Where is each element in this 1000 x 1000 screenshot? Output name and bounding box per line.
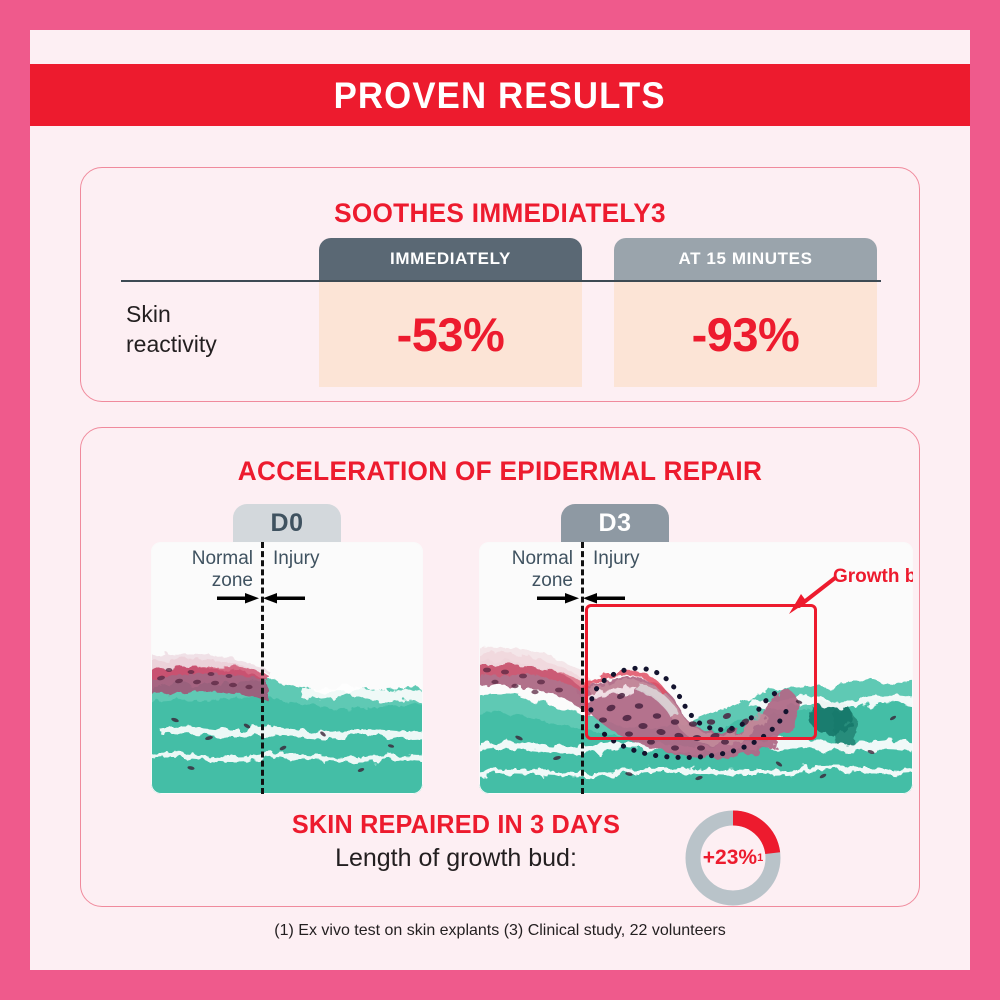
- zone-label-normal-d3-line2: zone: [487, 570, 573, 592]
- value-cell-immediately: -53%: [319, 282, 582, 387]
- column-header-at-15-minutes: AT 15 MINUTES: [614, 238, 877, 280]
- header-banner: PROVEN RESULTS: [30, 64, 970, 126]
- repair-summary-text: SKIN REPAIRED IN 3 DAYS Length of growth…: [241, 810, 671, 874]
- boundary-dashed-line-d3: [581, 542, 584, 794]
- growth-bud-donut-chart: +23%1: [681, 806, 785, 910]
- value-cell-at-15-minutes: -93%: [614, 282, 877, 387]
- donut-value-label: +23%1: [681, 806, 785, 910]
- growth-bud-highlight-box: [585, 604, 817, 740]
- zone-label-injury-d3: Injury: [593, 548, 639, 570]
- zone-label-normal-d0: Normal zone: [167, 548, 253, 592]
- summary-headline: SKIN REPAIRED IN 3 DAYS: [247, 810, 664, 840]
- infographic-root: PROVEN RESULTS SOOTHES IMMEDIATELY3 Skin…: [0, 0, 1000, 1000]
- zone-label-normal-d3-line1: Normal: [487, 548, 573, 570]
- page-content: PROVEN RESULTS SOOTHES IMMEDIATELY3 Skin…: [30, 30, 970, 970]
- donut-value-superscript: 1: [757, 852, 763, 864]
- value-immediately: -53%: [397, 311, 505, 358]
- histology-image-d3: Normal zone Injury: [479, 542, 913, 794]
- panel-label-d3: D3: [561, 504, 669, 542]
- repair-summary: SKIN REPAIRED IN 3 DAYS Length of growth…: [81, 810, 921, 900]
- row-label-skin-reactivity: Skin reactivity: [126, 300, 306, 360]
- footnote: (1) Ex vivo test on skin explants (3) Cl…: [30, 922, 970, 940]
- panel-label-d0-text: D0: [271, 509, 304, 538]
- zone-label-normal-d0-line1: Normal: [167, 548, 253, 570]
- boundary-dashed-line-d0: [261, 542, 264, 794]
- growth-bud-label: Growth bud: [833, 566, 913, 588]
- column-header-immediately-label: IMMEDIATELY: [390, 249, 511, 269]
- soothes-card: SOOTHES IMMEDIATELY3 Skin reactivity IMM…: [80, 167, 920, 402]
- column-header-at-15-minutes-label: AT 15 MINUTES: [678, 249, 812, 269]
- page-title: PROVEN RESULTS: [334, 77, 666, 114]
- epidermal-repair-card: ACCELERATION OF EPIDERMAL REPAIR D0: [80, 427, 920, 907]
- row-label-line2: reactivity: [126, 330, 306, 360]
- zone-label-injury-d0: Injury: [273, 548, 319, 570]
- soothes-table: Skin reactivity IMMEDIATELY AT 15 MINUTE…: [81, 238, 921, 403]
- histology-image-d0: Normal zone Injury: [151, 542, 423, 794]
- panel-label-d3-text: D3: [599, 509, 632, 538]
- column-header-immediately: IMMEDIATELY: [319, 238, 582, 280]
- value-at-15-minutes: -93%: [692, 311, 800, 358]
- soothes-card-title: SOOTHES IMMEDIATELY3: [94, 200, 907, 227]
- zone-label-injury-d0-text: Injury: [273, 548, 319, 569]
- zone-label-normal-d3: Normal zone: [487, 548, 573, 592]
- row-label-line1: Skin: [126, 300, 306, 330]
- boundary-arrows-d0: [211, 590, 311, 606]
- summary-subline: Length of growth bud:: [241, 842, 671, 875]
- repair-card-title: ACCELERATION OF EPIDERMAL REPAIR: [94, 458, 907, 485]
- donut-value-number: +23%: [703, 846, 757, 870]
- panel-label-d0: D0: [233, 504, 341, 542]
- zone-label-normal-d0-line2: zone: [167, 570, 253, 592]
- zone-label-injury-d3-text: Injury: [593, 548, 639, 569]
